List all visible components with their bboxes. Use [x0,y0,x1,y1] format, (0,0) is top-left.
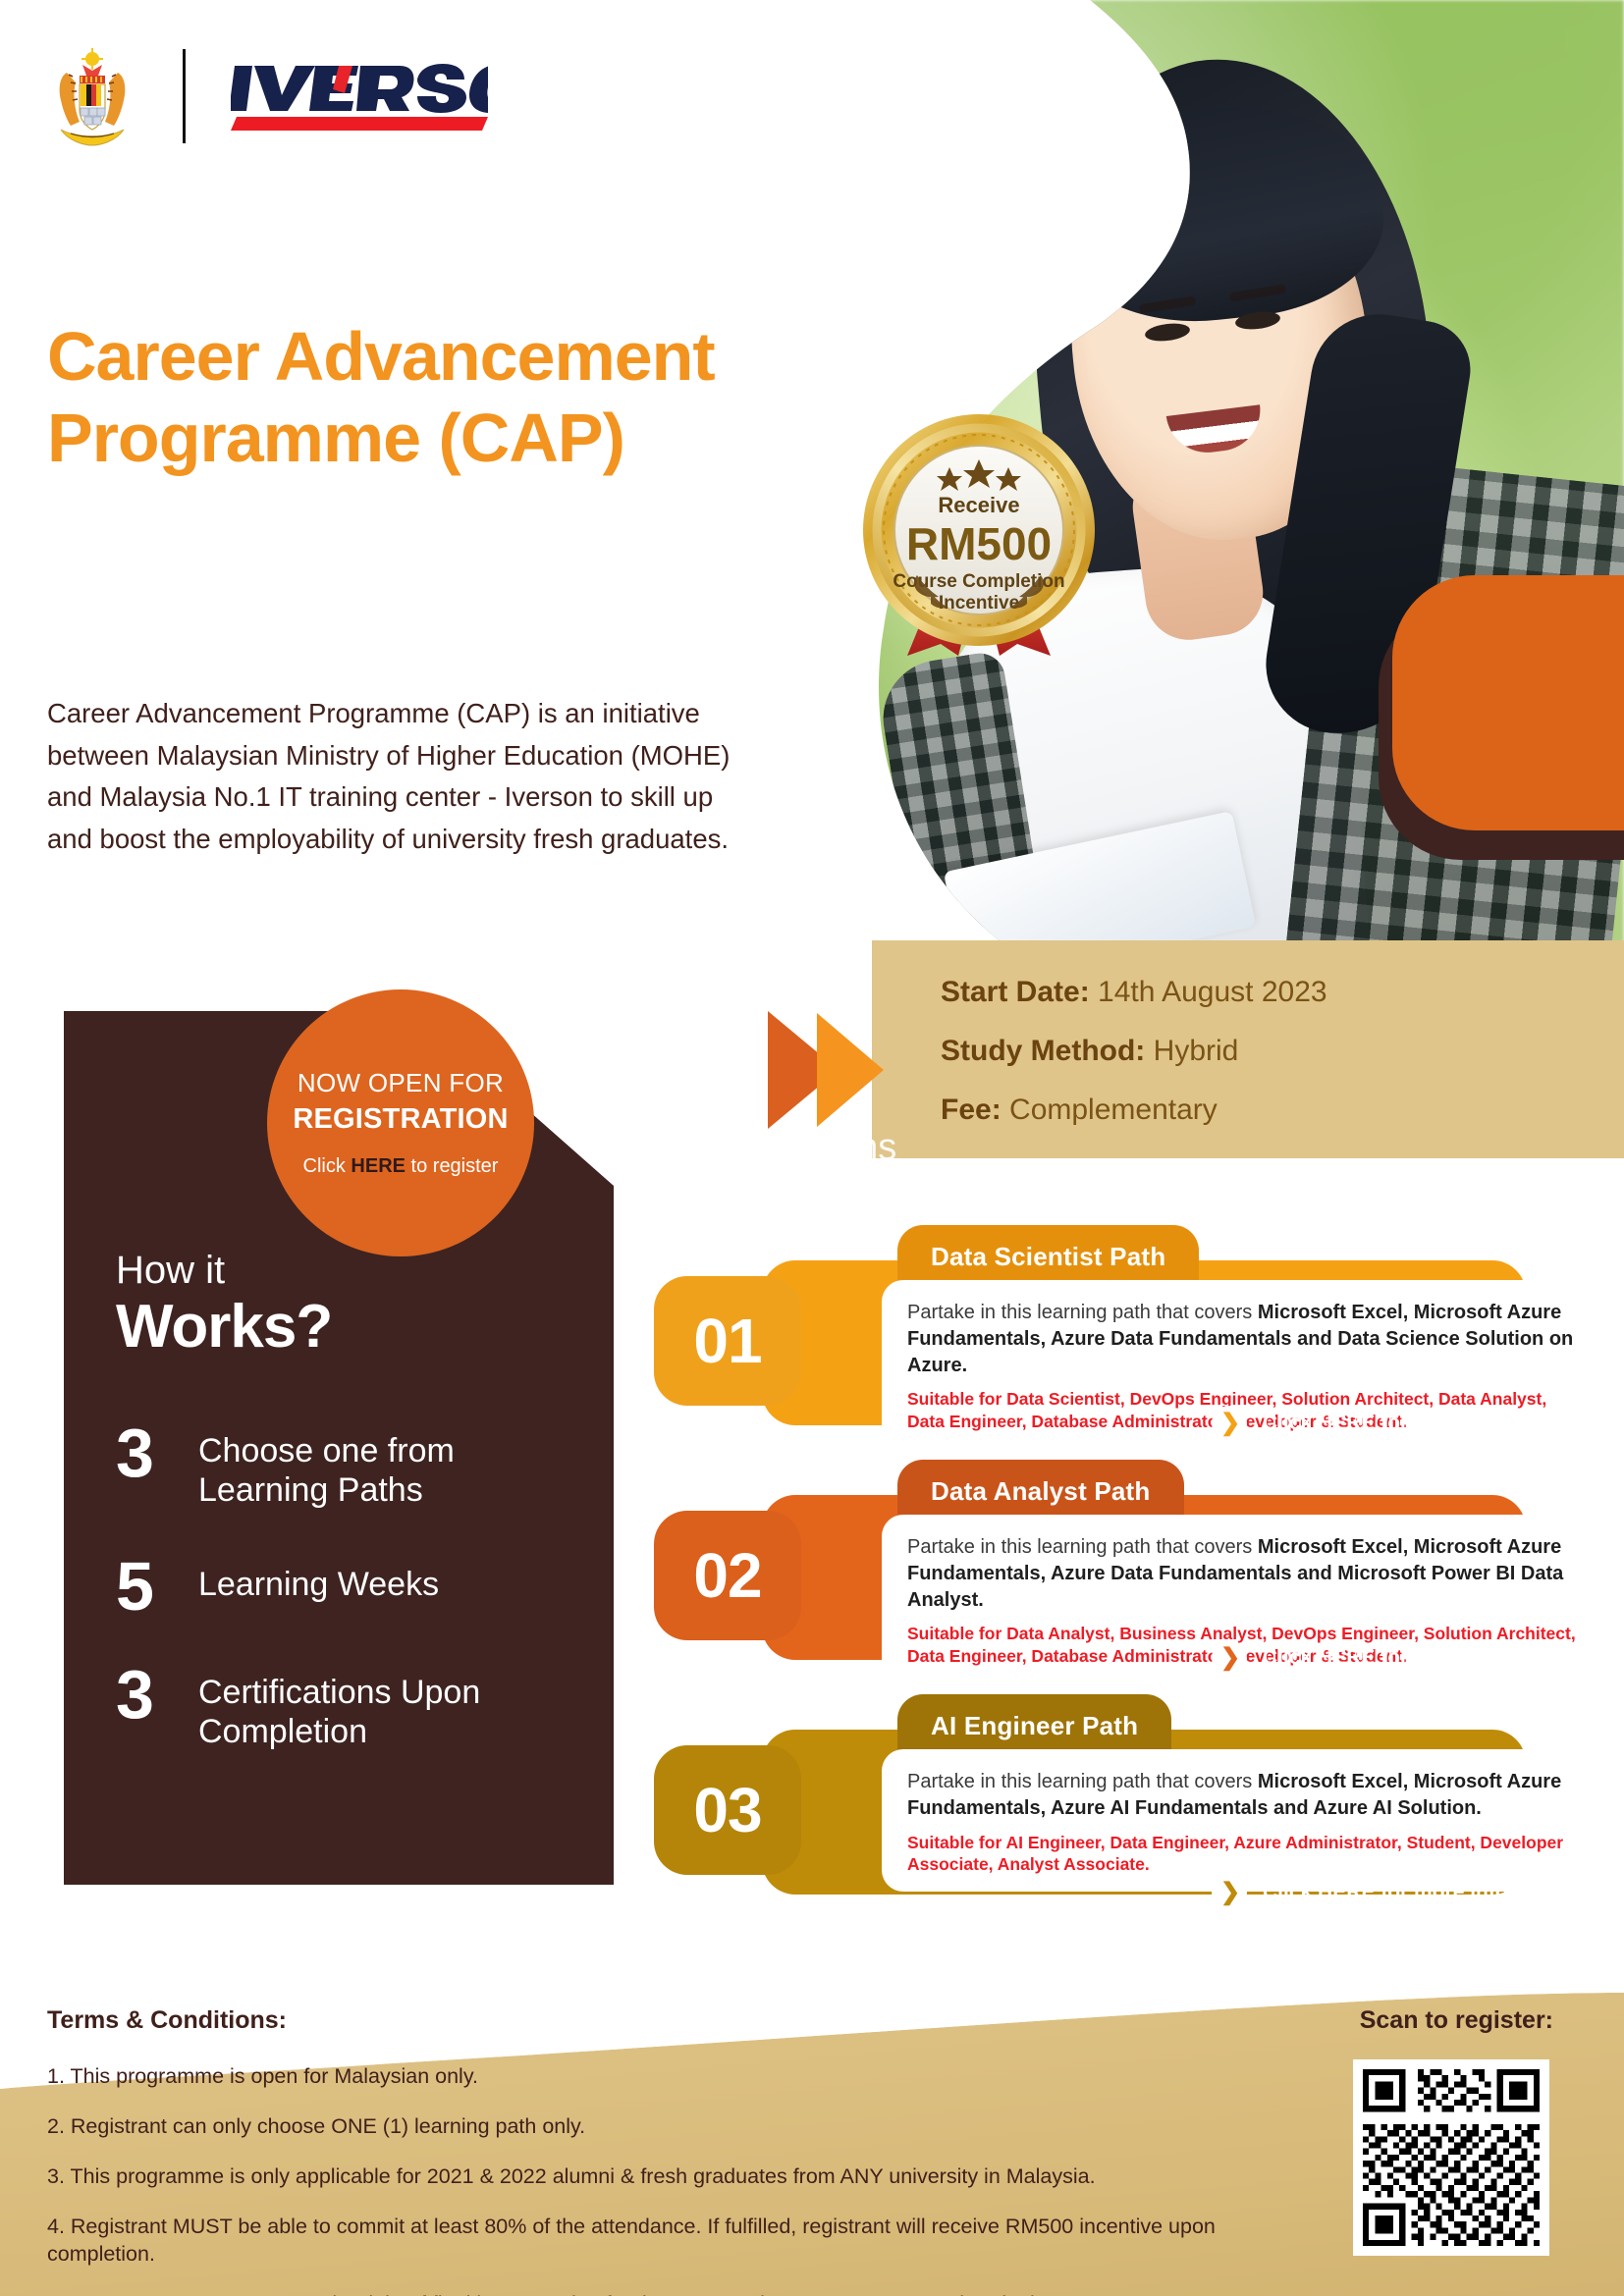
chevron-right-icon: ❯ [1212,1640,1247,1676]
learning-path-card[interactable]: 02 Data Analyst Path Partake in this lea… [654,1460,1624,1685]
step-number: 3 [116,1665,175,1726]
hero-shape-orange [1392,575,1624,830]
path-card-title-tab: Data Scientist Path [897,1225,1199,1288]
path-card-title: Data Scientist Path [931,1242,1165,1272]
poster-root: Career Advancement Programme (CAP) Caree… [0,0,1624,2296]
path-card-number: 02 [693,1539,761,1612]
terms-item: 1. This programme is open for Malaysian … [47,2063,1314,2091]
chevron-right-icon: ❯ [1212,1875,1247,1910]
path-card-number-tab: 03 [654,1745,801,1875]
header-divider [183,49,186,143]
path-card-title-tab: AI Engineer Path [897,1694,1171,1757]
path-card-cta[interactable]: ❯ Click HERE for more info [1212,1406,1508,1441]
terms-item: 3. This programme is only applicable for… [47,2163,1314,2191]
registration-line1: NOW OPEN FOR [298,1068,504,1098]
step-number: 3 [116,1423,175,1484]
stock-photo-watermark: om Domains [687,1127,896,1169]
step-item: 5 Learning Weeks [116,1557,528,1618]
detail-start-date-value: 14th August 2023 [1098,976,1327,1008]
path-card-number-tab: 01 [654,1276,801,1406]
header-logos [47,45,488,147]
detail-study-method-label: Study Method: [941,1035,1145,1067]
chevron-right-icon: ❯ [1212,1406,1247,1441]
medal-amount: RM500 [906,518,1052,569]
path-desc-plain: Partake in this learning path that cover… [907,1302,1258,1323]
learning-path-card[interactable]: 03 AI Engineer Path Partake in this lear… [654,1694,1624,1920]
detail-start-date-label: Start Date: [941,976,1090,1008]
registration-cta-circle[interactable]: NOW OPEN FOR REGISTRATION Click HERE to … [267,989,534,1256]
registration-click-line[interactable]: Click HERE to register [303,1155,499,1178]
path-card-number: 01 [693,1305,761,1377]
path-card-description: Partake in this learning path that cover… [907,1534,1583,1613]
registration-here-link[interactable]: HERE [351,1155,406,1177]
scan-to-register-label: Scan to register: [1360,2006,1553,2035]
programme-details-panel: Start Date: 14th August 2023 Study Metho… [872,940,1624,1158]
detail-study-method-value: Hybrid [1154,1035,1239,1067]
detail-fee-value: Complementary [1009,1094,1218,1126]
path-desc-plain: Partake in this learning path that cover… [907,1771,1258,1792]
step-item: 3 Choose one from Learning Paths [116,1423,528,1510]
qr-code-icon[interactable] [1353,2059,1549,2256]
terms-list: 1. This programme is open for Malaysian … [47,2063,1314,2296]
how-it-works-steps: 3 Choose one from Learning Paths 5 Learn… [116,1423,528,1798]
rm500-medal-badge: Receive RM500 Course Completion Incentiv… [856,410,1102,656]
path-desc-plain: Partake in this learning path that cover… [907,1536,1258,1558]
path-card-cta[interactable]: ❯ Click HERE for more info [1212,1640,1508,1676]
step-text: Learning Weeks [198,1557,439,1604]
path-card-suitable-for: Suitable for AI Engineer, Data Engineer,… [907,1832,1583,1877]
intro-paragraph: Career Advancement Programme (CAP) is an… [47,693,764,861]
path-card-cta-label[interactable]: Click HERE for more info [1263,1646,1508,1670]
step-item: 3 Certifications Upon Completion [116,1665,528,1751]
path-card-title-tab: Data Analyst Path [897,1460,1184,1522]
medal-caption-2: Incentive [939,593,1019,614]
path-card-cta[interactable]: ❯ Click HERE for more info [1212,1875,1508,1910]
terms-title: Terms & Conditions: [47,2006,287,2035]
learning-path-card[interactable]: 01 Data Scientist Path Partake in this l… [654,1225,1624,1451]
path-card-cta-label[interactable]: Click HERE for more info [1263,1412,1508,1435]
registration-click-suffix: to register [406,1155,498,1177]
page-title: Career Advancement Programme (CAP) [47,316,793,478]
registration-line2: REGISTRATION [293,1103,508,1136]
path-card-number: 03 [693,1774,761,1846]
detail-fee: Fee: Complementary [941,1068,1624,1127]
path-card-number-tab: 02 [654,1511,801,1640]
step-text: Choose one from Learning Paths [198,1423,528,1510]
path-card-cta-label[interactable]: Click HERE for more info [1263,1881,1508,1904]
how-it-works-label: How it [116,1249,225,1293]
path-card-description: Partake in this learning path that cover… [907,1769,1583,1822]
qr-code-svg [1363,2069,1540,2246]
detail-study-method: Study Method: Hybrid [941,1009,1624,1068]
medal-receive-label: Receive [938,493,1019,517]
chevron-right-icon-light [817,1013,884,1127]
malaysia-coat-of-arms-icon [47,45,137,147]
terms-item: 2. Registrant can only choose ONE (1) le… [47,2113,1314,2141]
path-card-title: Data Analyst Path [931,1476,1151,1507]
registration-click-prefix: Click [303,1155,352,1177]
iverson-logo [231,60,488,133]
detail-start-date: Start Date: 14th August 2023 [941,940,1624,1009]
step-number: 5 [116,1557,175,1618]
path-card-info-box: Partake in this learning path that cover… [882,1749,1608,1892]
how-it-works-heading: Works? [116,1292,332,1362]
detail-fee-label: Fee: [941,1094,1001,1126]
terms-item: 5. MOHE or Iverson reserves the right of… [47,2291,1314,2296]
step-text: Certifications Upon Completion [198,1665,528,1751]
terms-item: 4. Registrant MUST be able to commit at … [47,2214,1314,2269]
path-card-title: AI Engineer Path [931,1711,1138,1741]
path-card-description: Partake in this learning path that cover… [907,1300,1583,1378]
